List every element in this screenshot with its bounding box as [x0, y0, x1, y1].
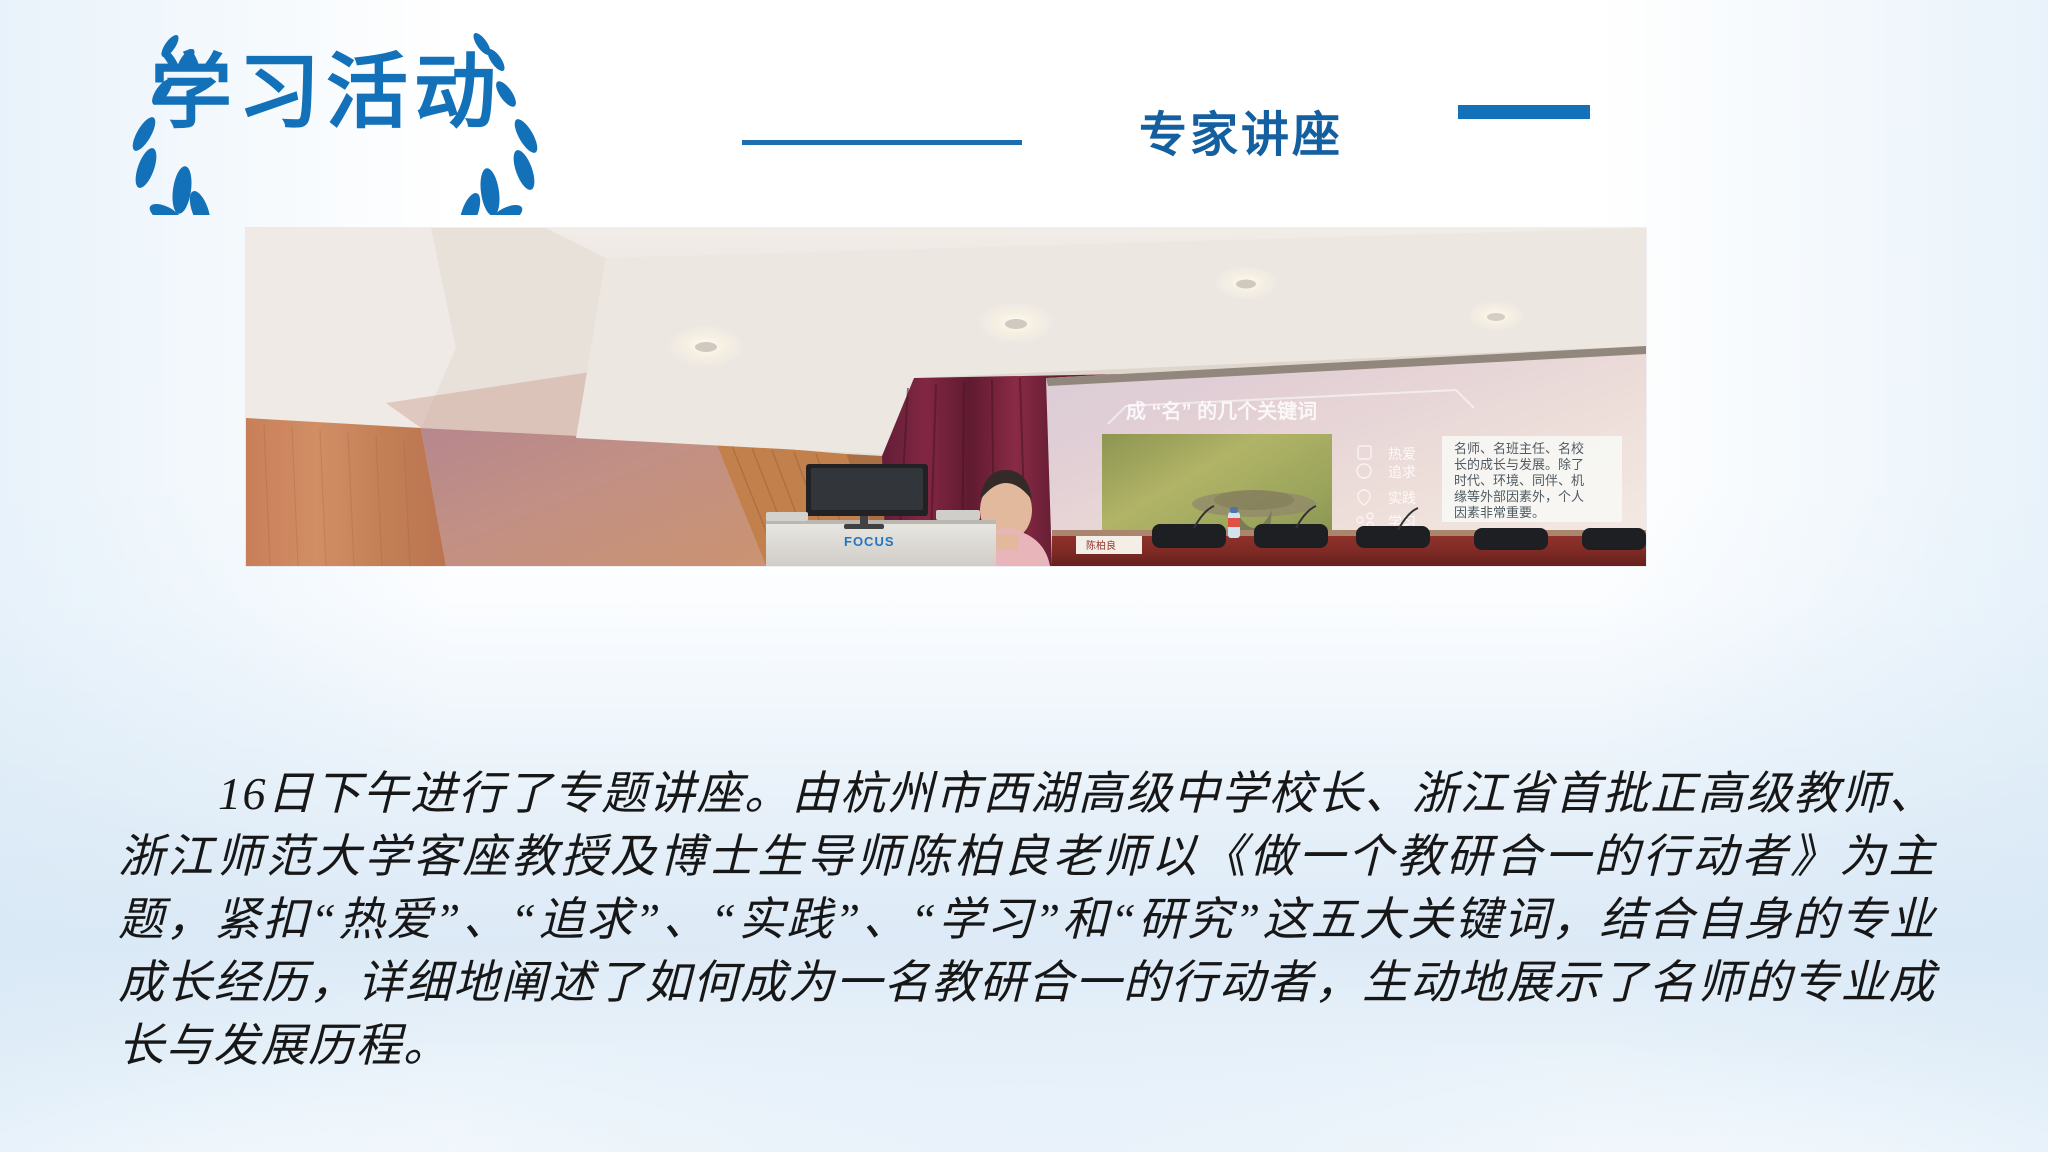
- lecture-photo: 成 “名” 的几个关键词: [246, 228, 1646, 566]
- photo-image: 成 “名” 的几个关键词: [246, 228, 1646, 566]
- accent-bar-icon: [1458, 105, 1590, 119]
- section-subtitle: 专家讲座: [1139, 112, 1343, 160]
- body-paragraph: 16日下午进行了专题讲座。由杭州市西湖高级中学校长、浙江省首批正高级教师、浙江师…: [118, 762, 1936, 1077]
- horizontal-rule-icon: [742, 140, 1022, 145]
- header: 学习活动 专家讲座: [0, 0, 2048, 230]
- page-title: 学习活动: [150, 52, 502, 134]
- slide-canvas: 学习活动 专家讲座: [0, 0, 2048, 1152]
